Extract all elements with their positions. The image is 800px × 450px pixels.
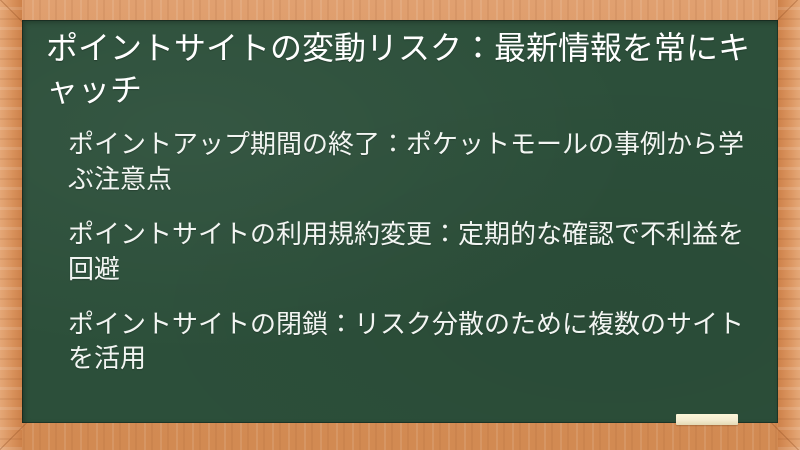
board-title: ポイントサイトの変動リスク：最新情報を常にキャッチ (46, 28, 754, 111)
blackboard-graphic: ポイントサイトの変動リスク：最新情報を常にキャッチ ポイントアップ期間の終了：ポ… (0, 0, 800, 450)
board-topic-list: ポイントアップ期間の終了：ポケットモールの事例から学ぶ注意点 ポイントサイトの利… (46, 127, 754, 376)
list-item: ポイントサイトの閉鎖：リスク分散のために複数のサイトを活用 (68, 307, 754, 377)
list-item: ポイントサイトの利用規約変更：定期的な確認で不利益を回避 (68, 217, 754, 287)
frame-right-stile (778, 0, 800, 450)
list-item: ポイントアップ期間の終了：ポケットモールの事例から学ぶ注意点 (68, 127, 754, 197)
chalk-stick-icon (676, 414, 738, 425)
frame-left-stile (0, 0, 22, 450)
chalkboard-surface: ポイントサイトの変動リスク：最新情報を常にキャッチ ポイントアップ期間の終了：ポ… (22, 20, 778, 423)
